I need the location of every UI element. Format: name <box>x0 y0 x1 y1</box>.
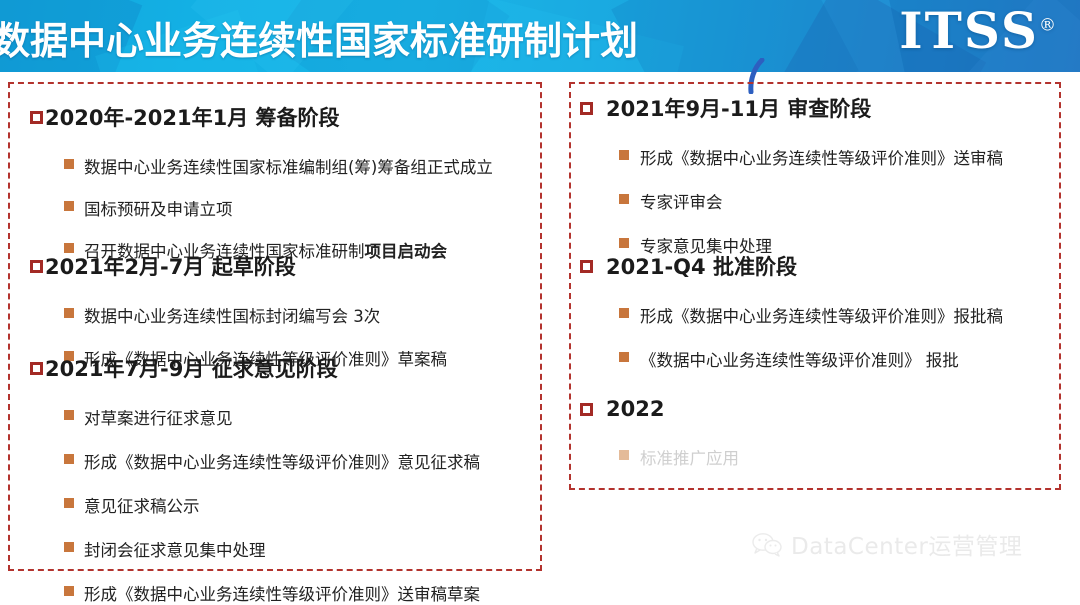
phase-heading: 2021年7月-9月 征求意见阶段 <box>30 353 480 383</box>
list-item-label: 数据中心业务连续性国标封闭编写会 3次 <box>84 303 380 327</box>
list-item: 意见征求稿公示 <box>64 493 480 517</box>
list-item: 数据中心业务连续性国家标准编制组(筹)筹备组正式成立 <box>64 154 493 178</box>
list-item: 形成《数据中心业务连续性等级评价准则》送审稿 <box>619 145 1003 169</box>
phase-section: 2021年9月-11月 审查阶段 形成《数据中心业务连续性等级评价准则》送审稿 … <box>571 93 1003 257</box>
bullet-square-icon <box>64 410 74 420</box>
phase-heading: 2020年-2021年1月 筹备阶段 <box>30 102 493 132</box>
list-item: 形成《数据中心业务连续性等级评价准则》送审稿草案 <box>64 581 480 605</box>
list-item-label: 形成《数据中心业务连续性等级评价准则》报批稿 <box>640 303 1003 327</box>
registered-trademark-icon: ® <box>1039 15 1058 35</box>
square-outline-icon <box>30 260 43 273</box>
phase-heading-label: 2021年2月-7月 起草阶段 <box>45 251 296 281</box>
list-item-label: 对草案进行征求意见 <box>84 405 233 429</box>
phase-bullet-list: 对草案进行征求意见 形成《数据中心业务连续性等级评价准则》意见征求稿 意见征求稿… <box>10 405 480 605</box>
square-outline-icon <box>30 111 43 124</box>
list-item-label: 标准推广应用 <box>640 445 739 469</box>
wechat-icon <box>752 532 782 557</box>
list-item-label: 国标预研及申请立项 <box>84 196 233 220</box>
list-item: 国标预研及申请立项 <box>64 196 493 220</box>
timeline-panel-right: 2021年9月-11月 审查阶段 形成《数据中心业务连续性等级评价准则》送审稿 … <box>569 82 1061 490</box>
list-item-label: 形成《数据中心业务连续性等级评价准则》意见征求稿 <box>84 449 480 473</box>
phase-heading: 2021年2月-7月 起草阶段 <box>30 251 447 281</box>
bullet-square-icon <box>619 238 629 248</box>
square-outline-icon <box>580 260 593 273</box>
page-title: 数据中心业务连续性国家标准研制计划 <box>0 10 638 65</box>
bullet-square-icon <box>64 542 74 552</box>
bullet-square-icon <box>619 450 629 460</box>
list-item-label: 数据中心业务连续性国家标准编制组(筹)筹备组正式成立 <box>84 154 493 178</box>
list-item: 封闭会征求意见集中处理 <box>64 537 480 561</box>
phase-section: 2022 标准推广应用 <box>571 397 739 469</box>
phase-heading-label: 2022 <box>606 397 664 421</box>
list-item-label: 形成《数据中心业务连续性等级评价准则》送审稿 <box>640 145 1003 169</box>
phase-heading: 2021-Q4 批准阶段 <box>580 251 1003 281</box>
square-outline-icon <box>30 362 43 375</box>
phase-bullet-list: 形成《数据中心业务连续性等级评价准则》报批稿 《数据中心业务连续性等级评价准则》… <box>571 303 1003 371</box>
header-banner: 数据中心业务连续性国家标准研制计划 ITSS® <box>0 0 1080 72</box>
phase-section: 2021-Q4 批准阶段 形成《数据中心业务连续性等级评价准则》报批稿 《数据中… <box>571 251 1003 371</box>
list-item: 标准推广应用 <box>619 445 739 469</box>
list-item-label: 专家评审会 <box>640 189 723 213</box>
list-item-label: 形成《数据中心业务连续性等级评价准则》送审稿草案 <box>84 581 480 605</box>
phase-bullet-list: 数据中心业务连续性国家标准编制组(筹)筹备组正式成立 国标预研及申请立项 召开数… <box>10 154 493 262</box>
list-item-label: 《数据中心业务连续性等级评价准则》 报批 <box>640 347 959 371</box>
phase-bullet-list: 形成《数据中心业务连续性等级评价准则》送审稿 专家评审会 专家意见集中处理 <box>571 145 1003 257</box>
phase-heading-label: 2021年9月-11月 审查阶段 <box>606 93 871 123</box>
list-item: 《数据中心业务连续性等级评价准则》 报批 <box>619 347 1003 371</box>
bullet-square-icon <box>64 498 74 508</box>
bullet-square-icon <box>64 454 74 464</box>
list-item-label: 封闭会征求意见集中处理 <box>84 537 266 561</box>
phase-section: 2020年-2021年1月 筹备阶段 数据中心业务连续性国家标准编制组(筹)筹备… <box>10 102 493 262</box>
list-item: 形成《数据中心业务连续性等级评价准则》报批稿 <box>619 303 1003 327</box>
phase-heading: 2022 <box>580 397 739 421</box>
square-outline-icon <box>580 403 593 416</box>
itss-logo-text: ITSS <box>899 1 1039 60</box>
bullet-square-icon <box>619 150 629 160</box>
bullet-square-icon <box>64 201 74 211</box>
watermark: DataCenter运营管理 <box>752 527 1022 561</box>
bullet-square-icon <box>619 194 629 204</box>
watermark-label: DataCenter运营管理 <box>791 527 1022 561</box>
phase-heading-label: 2021年7月-9月 征求意见阶段 <box>45 353 338 383</box>
phase-heading: 2021年9月-11月 审查阶段 <box>580 93 1003 123</box>
phase-section: 2021年7月-9月 征求意见阶段 对草案进行征求意见 形成《数据中心业务连续性… <box>10 353 480 605</box>
bullet-square-icon <box>64 308 74 318</box>
bullet-square-icon <box>619 352 629 362</box>
phase-heading-label: 2020年-2021年1月 筹备阶段 <box>45 102 340 132</box>
list-item: 专家评审会 <box>619 189 1003 213</box>
bullet-square-icon <box>64 159 74 169</box>
bullet-square-icon <box>64 586 74 596</box>
square-outline-icon <box>580 102 593 115</box>
list-item: 数据中心业务连续性国标封闭编写会 3次 <box>64 303 447 327</box>
list-item: 形成《数据中心业务连续性等级评价准则》意见征求稿 <box>64 449 480 473</box>
itss-logo: ITSS® <box>899 6 1058 56</box>
phase-bullet-list: 标准推广应用 <box>571 445 739 469</box>
list-item: 对草案进行征求意见 <box>64 405 480 429</box>
list-item-label: 意见征求稿公示 <box>84 493 200 517</box>
bullet-square-icon <box>619 308 629 318</box>
timeline-panel-left: 2020年-2021年1月 筹备阶段 数据中心业务连续性国家标准编制组(筹)筹备… <box>8 82 542 571</box>
phase-heading-label: 2021-Q4 批准阶段 <box>606 251 797 281</box>
